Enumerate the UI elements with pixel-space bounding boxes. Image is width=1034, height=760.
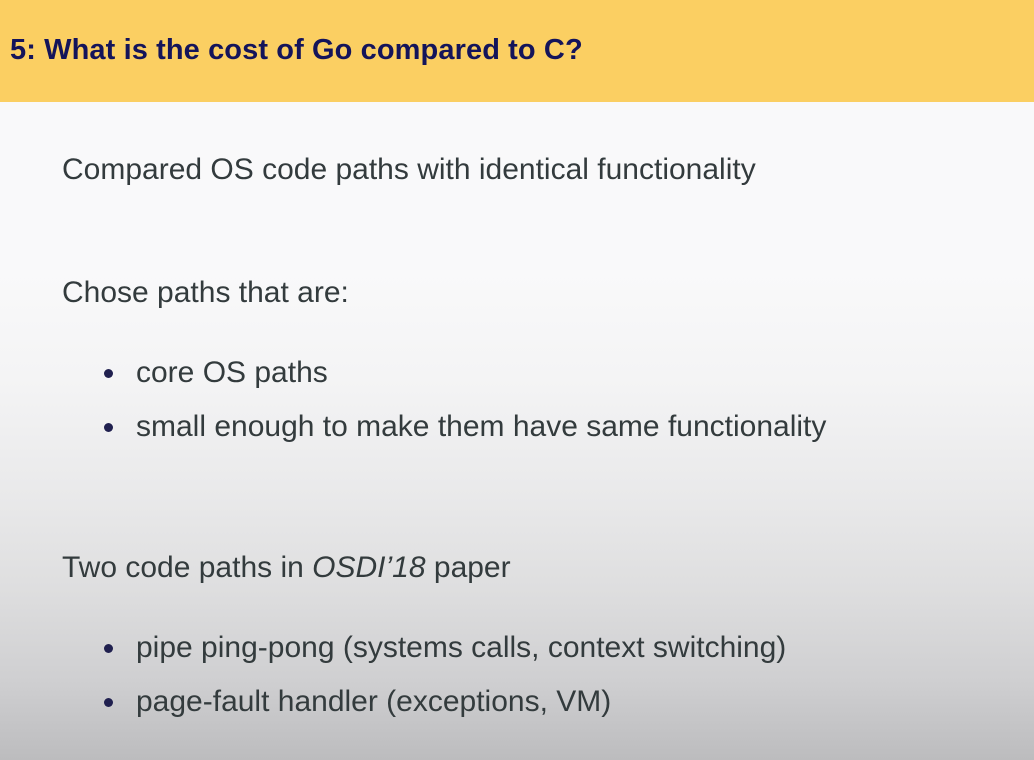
- lead-line-chose-paths: Chose paths that are:: [62, 275, 1022, 311]
- slide-title: 5: What is the cost of Go compared to C?: [10, 35, 583, 67]
- lead-line-compared: Compared OS code paths with identical fu…: [62, 152, 1022, 188]
- slide: 5: What is the cost of Go compared to C?…: [0, 0, 1034, 760]
- lead-line-suffix: paper: [426, 551, 511, 584]
- bullet-dot-icon: [104, 644, 113, 653]
- list-item-label: small enough to make them have same func…: [136, 410, 826, 443]
- lead-line-two-code-paths: Two code paths in OSDI’18 paper: [62, 550, 1022, 586]
- bullet-list-code-paths: pipe ping-pong (systems calls, context s…: [62, 630, 1022, 720]
- list-item: small enough to make them have same func…: [62, 409, 1022, 445]
- bullet-dot-icon: [104, 698, 113, 707]
- bullet-dot-icon: [104, 369, 113, 378]
- content-block-two-code-paths: Two code paths in OSDI’18 paper: [62, 550, 1022, 586]
- lead-line-prefix: Two code paths in: [62, 551, 312, 584]
- list-item-label: core OS paths: [136, 356, 328, 389]
- content-block-path-criteria: core OS paths small enough to make them …: [62, 355, 1022, 445]
- slide-title-bar: 5: What is the cost of Go compared to C?: [0, 0, 1034, 102]
- bullet-list-path-criteria: core OS paths small enough to make them …: [62, 355, 1022, 445]
- list-item: core OS paths: [62, 355, 1022, 391]
- content-block-chose-paths: Chose paths that are:: [62, 275, 1022, 311]
- list-item: pipe ping-pong (systems calls, context s…: [62, 630, 1022, 666]
- slide-content: Compared OS code paths with identical fu…: [0, 102, 1034, 760]
- list-item-label: pipe ping-pong (systems calls, context s…: [136, 631, 786, 664]
- content-block-compared: Compared OS code paths with identical fu…: [62, 152, 1022, 188]
- list-item-label: page-fault handler (exceptions, VM): [136, 685, 611, 718]
- bullet-dot-icon: [104, 423, 113, 432]
- list-item: page-fault handler (exceptions, VM): [62, 684, 1022, 720]
- paper-reference: OSDI’18: [312, 551, 425, 584]
- content-block-code-paths: pipe ping-pong (systems calls, context s…: [62, 630, 1022, 720]
